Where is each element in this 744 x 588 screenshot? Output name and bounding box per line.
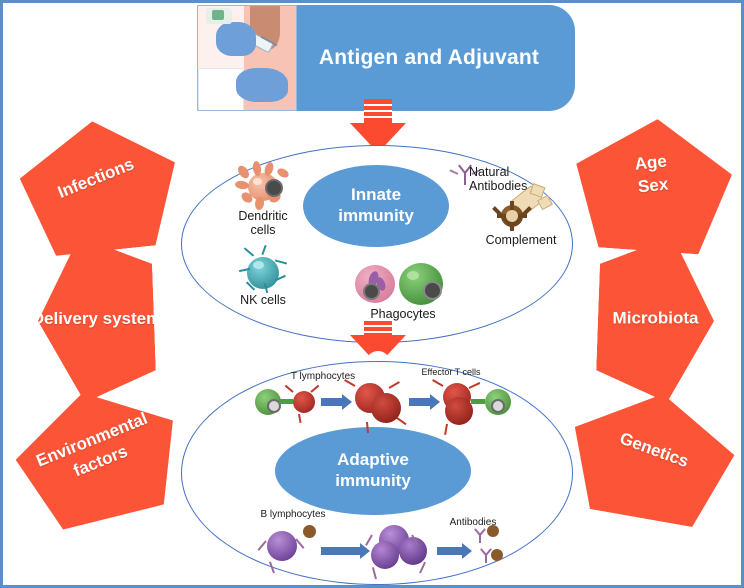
complement-label: Complement: [473, 233, 569, 247]
factor-genetics-label: Genetics: [616, 427, 691, 473]
effector-t-cells-label: Effector T cells: [401, 367, 501, 377]
adaptive-immunity-label: Adaptive immunity: [275, 427, 471, 515]
dendritic-cell-icon: [235, 163, 291, 211]
factor-age-sex-label: Age Sex: [634, 151, 671, 200]
factor-infections[interactable]: Infections: [15, 113, 184, 259]
innate-label-line2: immunity: [338, 206, 414, 227]
antigen-particle: [303, 525, 316, 538]
nk-cell-icon: [237, 251, 289, 293]
factor-infections-label: Infections: [54, 153, 137, 204]
innate-label-line1: Innate: [338, 185, 414, 206]
factor-delivery-system-label: Delivery system: [31, 308, 160, 331]
b-lymphocytes-label: B lymphocytes: [243, 509, 343, 520]
factor-microbiota-label: Microbiota: [613, 308, 699, 331]
figure-canvas: Antigen and Adjuvant Innate immunity Den…: [0, 0, 744, 588]
dendritic-cells-label: Dendritic cells: [221, 209, 305, 237]
vaccination-illustration: [197, 5, 297, 111]
factor-environmental[interactable]: Environmental factors: [4, 373, 192, 536]
nk-cells-label: NK cells: [221, 293, 305, 307]
phagocytes-label: Phagocytes: [351, 307, 455, 321]
header-title: Antigen and Adjuvant: [297, 46, 575, 70]
complement-icon: [495, 185, 557, 235]
adaptive-label-line1: Adaptive: [335, 450, 411, 471]
innate-immunity-label: Innate immunity: [303, 165, 449, 247]
factor-environmental-label: Environmental factors: [33, 408, 160, 495]
factor-age-sex[interactable]: Age Sex: [571, 114, 736, 257]
adaptive-label-line2: immunity: [335, 471, 411, 492]
header-banner: Antigen and Adjuvant: [197, 5, 575, 111]
factor-delivery-system[interactable]: Delivery system: [35, 234, 157, 404]
phagocytes-icon: [355, 261, 451, 307]
b-cell-pathway: [259, 523, 503, 575]
t-cell-pathway: [255, 381, 521, 425]
factor-genetics[interactable]: Genetics: [561, 380, 742, 532]
factor-microbiota[interactable]: Microbiota: [595, 234, 717, 404]
